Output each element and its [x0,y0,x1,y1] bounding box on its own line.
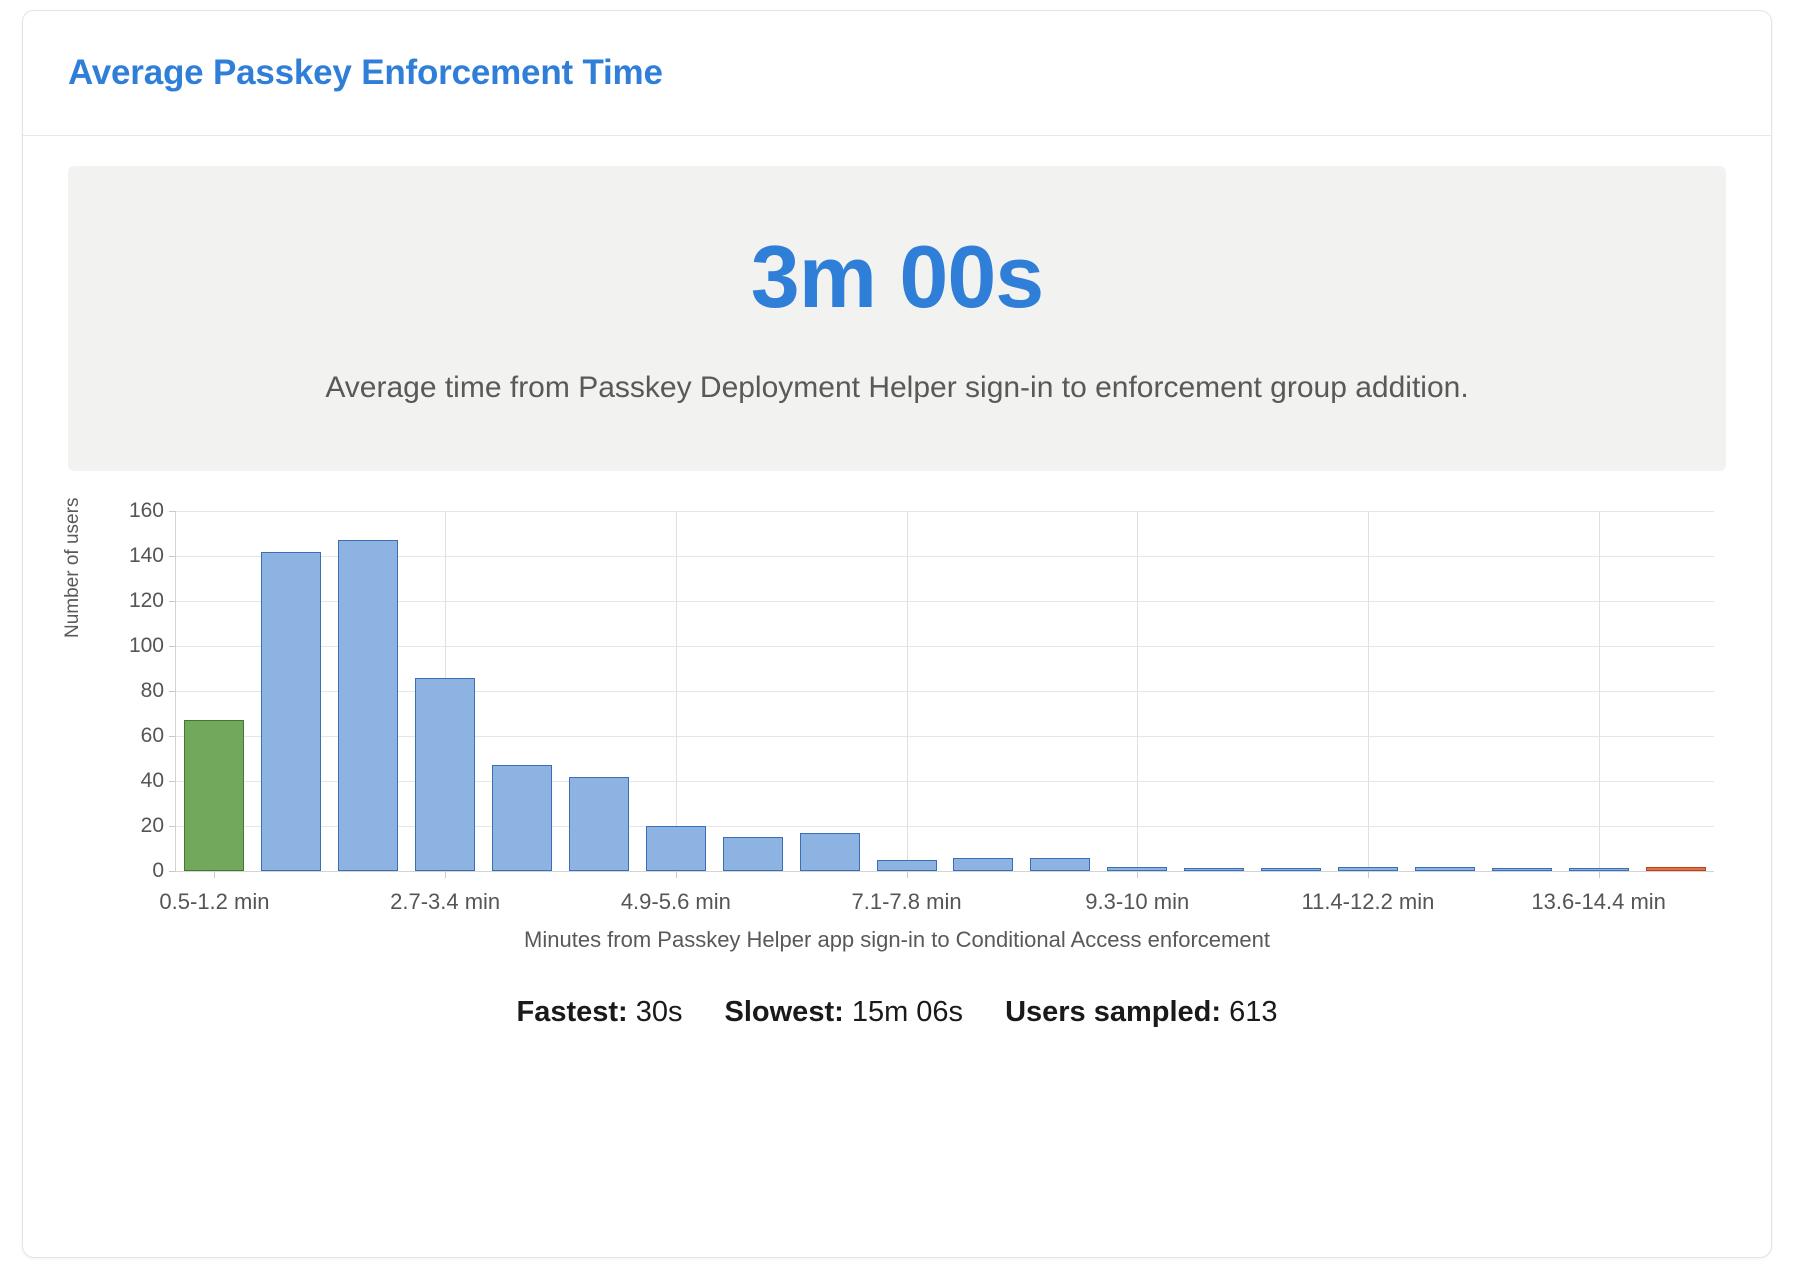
summary-stat-value: 30s [628,996,683,1028]
histogram-bar[interactable] [953,858,1013,872]
x-axis-tick-mark [214,871,215,878]
x-axis-tick-mark [445,871,446,878]
hero-metric-description: Average time from Passkey Deployment Hel… [325,371,1468,405]
x-axis-tick-mark [907,871,908,878]
histogram-bar[interactable] [800,833,860,871]
y-axis-tick-label: 160 [129,499,164,523]
y-axis-tick-mark [169,511,176,512]
y-axis-tick-mark [169,601,176,602]
y-axis-tick-mark [169,646,176,647]
y-axis-tick-label: 140 [129,544,164,568]
y-axis-label: Number of users [62,498,84,638]
histogram-bar[interactable] [1261,868,1321,871]
x-axis-tick-mark [1137,871,1138,878]
x-axis-tick-label: 9.3-10 min [1085,889,1189,915]
x-axis-tick-mark [1599,871,1600,878]
hero-metric-value: 3m 00s [751,233,1043,321]
y-axis-tick-label: 60 [141,724,164,748]
x-axis-tick-label: 7.1-7.8 min [852,889,962,915]
histogram-bar[interactable] [1492,868,1552,871]
histogram-bar[interactable] [646,826,706,871]
histogram-bar[interactable] [415,678,475,872]
y-axis-tick-mark [169,871,176,872]
x-axis-label: Minutes from Passkey Helper app sign-in … [68,927,1726,953]
bar-series [176,511,1714,871]
histogram-bar[interactable] [338,540,398,871]
histogram-bar[interactable] [569,777,629,872]
summary-stat-label: Fastest: [516,996,627,1028]
y-axis-tick-label: 20 [141,814,164,838]
y-axis-tick-label: 100 [129,634,164,658]
x-axis-tick-mark [1368,871,1369,878]
histogram-bar[interactable] [1646,867,1706,872]
summary-stat-label: Slowest: [725,996,844,1028]
y-axis-tick-mark [169,691,176,692]
histogram-bar[interactable] [723,837,783,871]
plot-area: 020406080100120140160 0.5-1.2 min2.7-3.4… [175,511,1714,872]
histogram-bar[interactable] [261,552,321,872]
x-axis-tick-mark [676,871,677,878]
histogram-bar[interactable] [184,720,244,871]
histogram-bar[interactable] [1030,858,1090,872]
y-axis-tick-mark [169,736,176,737]
metric-card: Average Passkey Enforcement Time 3m 00s … [22,10,1772,1258]
y-axis-tick-mark [169,826,176,827]
summary-stat-value: 613 [1221,996,1277,1028]
x-axis-tick-label: 0.5-1.2 min [159,889,269,915]
y-axis-tick-mark [169,781,176,782]
y-axis-tick-mark [169,556,176,557]
page-title: Average Passkey Enforcement Time [68,53,663,93]
summary-stat-item: Users sampled: 613 [1005,996,1277,1028]
summary-stat-value: 15m 06s [844,996,963,1028]
x-axis-tick-label: 2.7-3.4 min [390,889,500,915]
summary-stats: Fastest: 30sSlowest: 15m 06sUsers sample… [68,996,1726,1029]
hero-metric-panel: 3m 00s Average time from Passkey Deploym… [68,166,1726,471]
summary-stat-item: Slowest: 15m 06s [725,996,964,1028]
x-axis-tick-label: 11.4-12.2 min [1301,889,1434,915]
y-axis-tick-label: 80 [141,679,164,703]
histogram-chart: Number of users 020406080100120140160 0.… [68,503,1726,958]
histogram-bar[interactable] [877,860,937,871]
summary-stat-item: Fastest: 30s [516,996,682,1028]
x-axis-tick-label: 13.6-14.4 min [1531,889,1666,915]
summary-stat-label: Users sampled: [1005,996,1221,1028]
y-axis-tick-label: 120 [129,589,164,613]
y-axis-tick-label: 40 [141,769,164,793]
card-header: Average Passkey Enforcement Time [23,11,1771,136]
histogram-bar[interactable] [1184,868,1244,871]
x-axis-tick-label: 4.9-5.6 min [621,889,731,915]
y-axis-tick-label: 0 [152,859,164,883]
histogram-bar[interactable] [492,765,552,871]
card-body: 3m 00s Average time from Passkey Deploym… [23,136,1771,1029]
histogram-bar[interactable] [1415,867,1475,872]
